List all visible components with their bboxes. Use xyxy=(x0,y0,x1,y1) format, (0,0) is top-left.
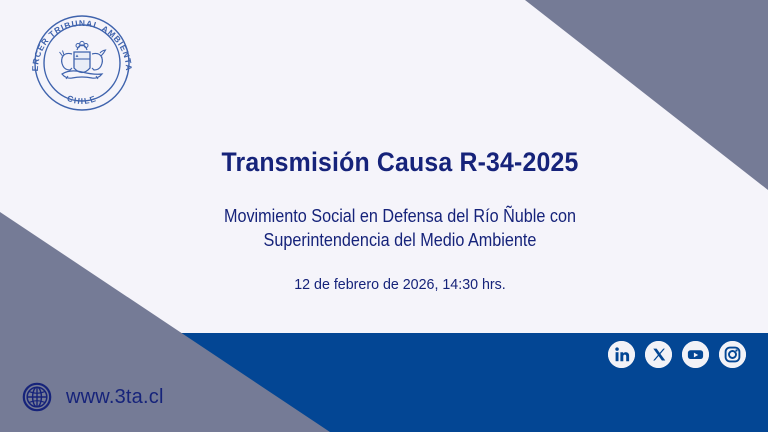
instagram-icon xyxy=(719,341,746,368)
case-parties-line-1: Movimiento Social en Defensa del Río Ñub… xyxy=(224,206,576,226)
case-parties-line-2: Superintendencia del Medio Ambiente xyxy=(184,228,616,252)
social-link-instagram[interactable] xyxy=(719,341,746,368)
social-link-linkedin[interactable] xyxy=(608,341,635,368)
case-parties-subtitle: Movimiento Social en Defensa del Río Ñub… xyxy=(184,204,616,253)
chile-coat-of-arms xyxy=(60,41,106,79)
x-twitter-icon xyxy=(645,341,672,368)
website-url[interactable]: www.3ta.cl xyxy=(66,386,164,409)
seal-bottom-text: CHILE xyxy=(66,93,99,106)
social-link-youtube[interactable] xyxy=(682,341,709,368)
youtube-icon xyxy=(682,341,709,368)
social-links xyxy=(608,341,746,368)
hearing-datetime: 12 de febrero de 2026, 14:30 hrs. xyxy=(172,276,628,293)
announcement-text-block: Transmisión Causa R-34-2025 Movimiento S… xyxy=(160,148,640,293)
linkedin-icon xyxy=(608,341,635,368)
tercer-tribunal-ambiental-seal: TERCER TRIBUNAL AMBIENTAL CHILE xyxy=(22,8,142,118)
page-title: Transmisión Causa R-34-2025 xyxy=(179,148,621,178)
footer-website[interactable]: www.3ta.cl xyxy=(22,382,164,412)
globe-icon xyxy=(22,382,52,412)
broadcast-announcement-slide: TERCER TRIBUNAL AMBIENTAL CHILE xyxy=(0,0,768,432)
social-link-x[interactable] xyxy=(645,341,672,368)
